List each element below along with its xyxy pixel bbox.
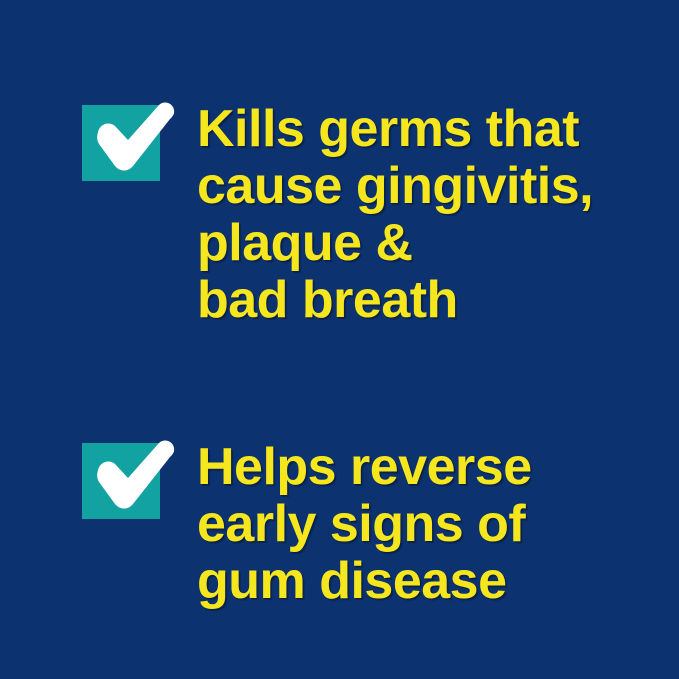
- benefit-item-1: Kills germs that cause gingivitis, plaqu…: [81, 100, 593, 329]
- benefits-poster: Kills germs that cause gingivitis, plaqu…: [0, 0, 679, 679]
- benefit-line: cause gingivitis,: [197, 158, 593, 215]
- benefit-text-1: Kills germs that cause gingivitis, plaqu…: [197, 100, 593, 329]
- benefit-line: Helps reverse: [197, 439, 532, 496]
- checkmark-badge: [81, 100, 177, 190]
- benefit-line: bad breath: [197, 272, 593, 329]
- checkbox-square: [82, 105, 160, 181]
- checkmark-badge: [81, 438, 177, 528]
- benefit-line: plaque &: [197, 215, 593, 272]
- checkbox-square: [82, 443, 160, 519]
- benefit-line: early signs of: [197, 496, 532, 553]
- benefit-text-2: Helps reverse early signs of gum disease: [197, 438, 532, 610]
- benefit-line: Kills germs that: [197, 101, 593, 158]
- benefit-line: gum disease: [197, 553, 532, 610]
- benefit-item-2: Helps reverse early signs of gum disease: [81, 438, 532, 610]
